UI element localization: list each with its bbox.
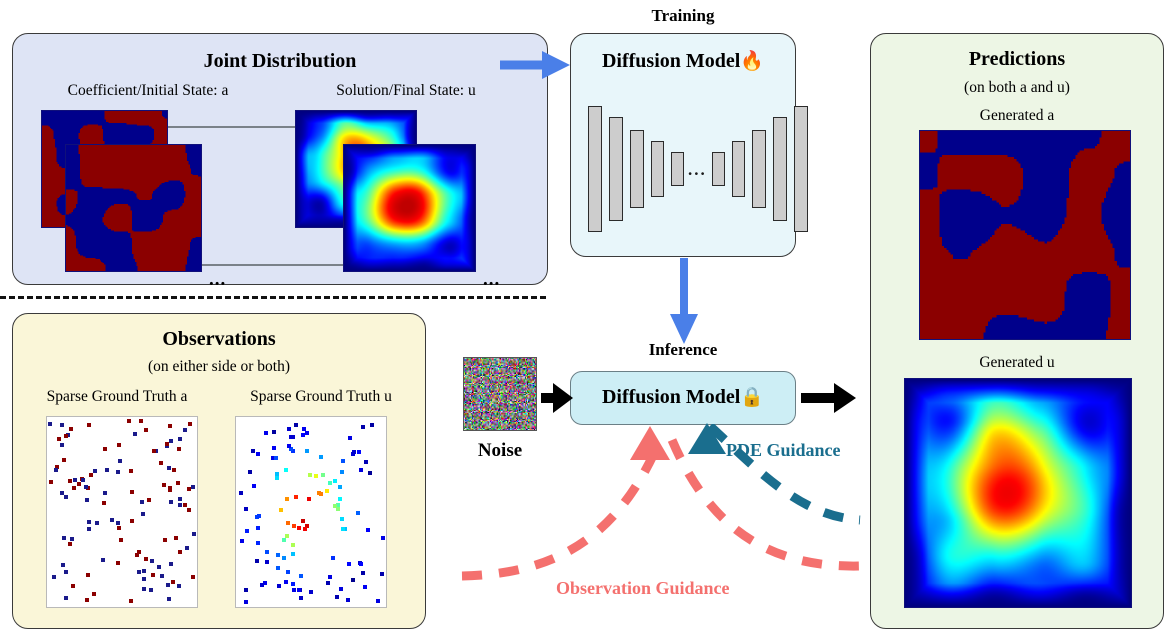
observation-point (303, 527, 307, 531)
observation-point (73, 478, 77, 482)
observation-point (85, 498, 89, 502)
observation-point (328, 575, 332, 579)
observation-point (366, 528, 370, 532)
joint-distribution-title: Joint Distribution (13, 50, 547, 73)
observation-point (351, 578, 355, 582)
observations-subtitle: (on either side or both) (13, 358, 425, 376)
inference-heading: Inference (570, 340, 796, 360)
observation-point (141, 512, 145, 516)
observation-point (331, 556, 335, 560)
observation-point (326, 581, 330, 585)
generated-u-label: Generated u (871, 354, 1163, 372)
observation-point (272, 430, 276, 434)
observation-point (160, 574, 164, 578)
observation-point (239, 491, 243, 495)
observation-point (340, 470, 344, 474)
joint-ellipsis-right: ... (483, 270, 500, 289)
observation-point (183, 503, 187, 507)
observation-point (256, 452, 260, 456)
observation-point (317, 491, 321, 495)
observation-point (142, 569, 146, 573)
observation-point (359, 468, 363, 472)
observation-point (130, 519, 134, 523)
observation-point (167, 597, 171, 601)
observation-point (93, 469, 97, 473)
observation-point (178, 550, 182, 554)
observation-point (129, 599, 133, 603)
inference-diffusion-model-panel[interactable]: Diffusion Model🔒 (570, 371, 796, 425)
observation-point (129, 469, 133, 473)
pde-guidance-label: PDE Guidance (726, 440, 841, 461)
observation-point (172, 468, 176, 472)
observation-point (86, 573, 90, 577)
observation-point (177, 447, 181, 451)
observation-point (380, 572, 384, 576)
observation-point (325, 489, 329, 493)
observation-point (284, 580, 288, 584)
observation-point (142, 577, 146, 581)
observation-point (356, 511, 360, 515)
observation-point (265, 560, 269, 564)
observation-point (333, 479, 337, 483)
predictions-panel: Predictions (on both a and u) Generated … (870, 33, 1164, 629)
observation-point (159, 461, 163, 465)
observation-point (61, 563, 65, 567)
observation-point (338, 497, 342, 501)
observation-point (183, 428, 187, 432)
observation-point (291, 543, 295, 547)
unet-bar (609, 117, 623, 221)
observation-point (256, 541, 260, 545)
observation-point (297, 588, 301, 592)
inference-model-label: Diffusion Model🔒 (571, 385, 795, 409)
observation-point (64, 495, 68, 499)
observation-point (260, 583, 264, 587)
pair-connector-top (161, 126, 309, 128)
observation-point (152, 449, 156, 453)
observation-point (359, 562, 363, 566)
observation-point (335, 595, 339, 599)
observation-point (174, 536, 178, 540)
observation-point (340, 517, 344, 521)
observation-point (48, 422, 52, 426)
observation-point (297, 526, 301, 530)
training-model-label: Diffusion Model🔥 (571, 49, 795, 73)
arrow-noise-to-model (540, 380, 574, 416)
unet-bar (773, 117, 787, 221)
observation-point (274, 456, 278, 460)
observation-point (294, 495, 298, 499)
observation-point (60, 423, 64, 427)
observation-point (308, 473, 312, 477)
observation-point (169, 500, 173, 504)
inference-model-text: Diffusion Model (602, 386, 740, 408)
observation-point (142, 587, 146, 591)
observation-point (352, 450, 356, 454)
observation-point (89, 473, 93, 477)
unet-bar (794, 106, 808, 232)
observation-point (116, 470, 120, 474)
observation-point (144, 428, 148, 432)
observation-point (307, 497, 311, 501)
observation-point (62, 458, 66, 462)
observation-point (64, 434, 68, 438)
observation-point (257, 514, 261, 518)
observation-point (381, 536, 385, 540)
observation-point (69, 427, 73, 431)
observation-point (166, 583, 170, 587)
observation-point (81, 478, 85, 482)
observation-point (150, 559, 154, 563)
observation-point (346, 598, 350, 602)
observations-panel: Observations (on either side or both) Sp… (12, 313, 426, 629)
observation-point (187, 508, 191, 512)
observation-point (339, 587, 343, 591)
unet-bar (651, 141, 664, 197)
unet-bar (671, 152, 684, 186)
observation-point (251, 449, 255, 453)
observation-point (116, 521, 120, 525)
unet-ellipsis: ... (688, 160, 707, 180)
coefficient-label: Coefficient/Initial State: a (23, 82, 273, 100)
observation-point (240, 539, 244, 543)
observation-point (167, 466, 171, 470)
predictions-subtitle: (on both a and u) (871, 79, 1163, 97)
observation-point (84, 485, 88, 489)
training-heading: Training (570, 6, 796, 26)
observation-point (279, 508, 283, 512)
observation-point (276, 553, 280, 557)
observation-point (103, 447, 107, 451)
arrow-model-to-predictions (800, 380, 858, 416)
observation-point (102, 501, 106, 505)
observation-point (87, 527, 91, 531)
observation-point (64, 570, 68, 574)
observation-point (256, 526, 260, 530)
observation-point (151, 573, 155, 577)
observation-point (376, 599, 380, 603)
observation-point (178, 503, 182, 507)
observation-point (370, 423, 374, 427)
training-model-text: Diffusion Model (602, 50, 740, 72)
observation-point (105, 468, 109, 472)
observation-point (103, 491, 107, 495)
observation-point (305, 431, 309, 435)
observation-point (130, 490, 134, 494)
observation-point (185, 546, 189, 550)
observation-point (287, 444, 291, 448)
observation-point (282, 538, 286, 542)
observation-point (361, 571, 365, 575)
observation-point (192, 532, 196, 536)
lock-emoji-icon: 🔒 (740, 387, 764, 408)
observation-point (117, 526, 121, 530)
coefficient-field-sample-2 (65, 144, 202, 272)
observation-point (169, 562, 173, 566)
observation-point (284, 468, 288, 472)
observation-point (299, 574, 303, 578)
observation-point (110, 518, 114, 522)
joint-distribution-panel: Joint Distribution Coefficient/Initial S… (12, 33, 548, 285)
sparse-observation-plot-a (46, 416, 198, 608)
observation-point (244, 600, 248, 604)
observation-point (57, 437, 61, 441)
generated-u-image (904, 378, 1132, 608)
observation-point (87, 520, 91, 524)
sparse-observation-plot-u (235, 416, 387, 608)
pde-guidance-arrowhead (686, 422, 728, 456)
sparse-u-label: Sparse Ground Truth u (221, 388, 421, 406)
observation-point (314, 474, 318, 478)
observation-point (171, 580, 175, 584)
observation-point (60, 443, 64, 447)
observation-point (139, 419, 143, 423)
observation-point (292, 588, 296, 592)
observation-point (286, 570, 290, 574)
observation-point (95, 521, 99, 525)
observation-point (149, 588, 153, 592)
unet-architecture: ... (588, 104, 780, 234)
observation-point (287, 427, 291, 431)
solution-label: Solution/Final State: u (281, 82, 531, 100)
observation-point (275, 476, 279, 480)
observation-point (127, 419, 131, 423)
observation-point (291, 552, 295, 556)
observation-point (299, 596, 303, 600)
observation-point (291, 435, 295, 439)
unet-bar (630, 130, 644, 208)
joint-ellipsis-left: ... (209, 270, 226, 289)
observation-point (168, 424, 172, 428)
observation-point (291, 582, 295, 586)
observation-point (301, 519, 305, 523)
fire-emoji-icon: 🔥 (740, 51, 764, 72)
observation-guidance-arrowhead (628, 424, 672, 462)
observation-point (118, 459, 122, 463)
observation-point (341, 459, 345, 463)
observation-point (348, 436, 352, 440)
observation-point (163, 538, 167, 542)
observation-point (255, 559, 259, 563)
observation-point (117, 443, 121, 447)
unet-bar (712, 152, 725, 186)
unet-bar (732, 141, 745, 197)
observation-point (244, 588, 248, 592)
observation-point (252, 484, 256, 488)
observation-point (49, 480, 53, 484)
observation-point (101, 558, 105, 562)
observation-guidance-label: Observation Guidance (556, 578, 730, 599)
observation-point (62, 536, 66, 540)
observation-point (341, 527, 345, 531)
observation-point (272, 446, 276, 450)
observation-point (277, 584, 281, 588)
observation-point (92, 592, 96, 596)
observation-point (85, 598, 89, 602)
observation-point (302, 427, 306, 431)
noise-image (463, 357, 537, 431)
observation-point (191, 485, 195, 489)
observation-point (285, 497, 289, 501)
observation-point (364, 460, 368, 464)
predictions-subtitle-text: (on both a and u) (964, 79, 1070, 96)
observation-point (248, 470, 252, 474)
observation-point (336, 503, 340, 507)
observation-point (177, 584, 181, 588)
observation-point (157, 565, 161, 569)
sparse-a-label: Sparse Ground Truth a (17, 388, 217, 406)
observation-point (328, 481, 332, 485)
observation-point (64, 596, 68, 600)
observation-point (72, 486, 76, 490)
predictions-title: Predictions (871, 48, 1163, 71)
observation-point (301, 433, 305, 437)
observation-point (168, 486, 172, 490)
observation-point (178, 437, 182, 441)
observation-point (188, 422, 192, 426)
observation-point (52, 575, 56, 579)
generated-a-image (919, 130, 1131, 340)
observation-point (169, 439, 173, 443)
observation-point (144, 557, 148, 561)
observation-point (347, 562, 351, 566)
observation-point (116, 561, 120, 565)
observation-point (176, 481, 180, 485)
unet-bar (752, 130, 766, 208)
observations-title: Observations (13, 328, 425, 351)
observation-point (338, 485, 342, 489)
solution-field-sample-2 (343, 144, 476, 272)
observation-point (245, 529, 249, 533)
observation-point (282, 556, 286, 560)
observation-point (119, 538, 123, 542)
observation-point (309, 590, 313, 594)
observation-point (275, 472, 279, 476)
observation-point (77, 482, 81, 486)
observation-point (294, 423, 298, 427)
observation-point (133, 432, 137, 436)
observation-point (361, 425, 365, 429)
observation-point (333, 504, 337, 508)
observation-point (265, 550, 269, 554)
observation-point (147, 498, 151, 502)
observation-point (71, 584, 75, 588)
unet-bar (588, 106, 602, 232)
observation-point (368, 471, 372, 475)
observation-point (162, 483, 166, 487)
observation-point (70, 537, 74, 541)
observation-point (137, 550, 141, 554)
observation-point (305, 449, 309, 453)
observation-point (357, 450, 361, 454)
observation-point (321, 473, 325, 477)
observation-point (292, 524, 296, 528)
observation-point (137, 570, 141, 574)
observation-point (264, 431, 268, 435)
observation-point (165, 442, 169, 446)
observation-point (244, 507, 248, 511)
section-divider (0, 296, 546, 299)
observation-point (363, 585, 367, 589)
observation-point (263, 581, 267, 585)
observation-point (178, 497, 182, 501)
observation-point (54, 468, 58, 472)
observation-point (68, 542, 72, 546)
observation-point (319, 455, 323, 459)
observation-point (191, 575, 195, 579)
arrow-joint-to-training (498, 48, 574, 82)
generated-a-label: Generated a (871, 107, 1163, 125)
arrow-training-to-inference (664, 256, 704, 348)
observation-point (286, 521, 290, 525)
observation-point (68, 479, 72, 483)
observation-point (276, 566, 280, 570)
observation-point (87, 423, 91, 427)
observation-point (140, 500, 144, 504)
